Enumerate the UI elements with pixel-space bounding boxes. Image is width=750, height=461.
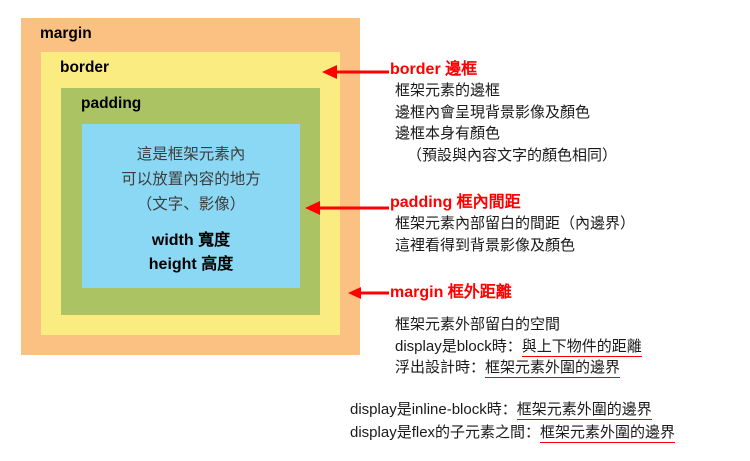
callout-padding: padding 框內間距 框架元素內部留白的間距（內邊界） 這裡看得到背景影像及…: [390, 193, 750, 256]
margin-layer-label: margin: [40, 25, 92, 43]
content-description-text: 這是框架元素內 可以放置內容的地方 （文字、影像）: [82, 142, 300, 217]
extra-line-prefix: display是flex的子元素之間：: [350, 424, 540, 441]
margin-arrow-left-icon: [344, 282, 390, 304]
callout-line-prefix: display是block時：: [395, 338, 522, 355]
padding-arrow-left-icon: [301, 197, 390, 219]
callout-padding-title: padding 框內間距: [390, 193, 750, 213]
callout-line: 框架元素外部留白的空間: [395, 314, 750, 336]
content-line: 可以放置內容的地方: [82, 167, 300, 192]
callout-margin-body: 框架元素外部留白的空間 display是block時：與上下物件的距離 浮出設計…: [390, 303, 750, 379]
callout-line: 浮出設計時：框架元素外圍的邊界: [395, 357, 750, 379]
callout-line-prefix: 浮出設計時：: [395, 359, 485, 376]
callout-line: 框架元素內部留白的間距（內邊界）: [395, 213, 750, 235]
width-label: width 寬度: [82, 229, 300, 253]
box-model-diagram: 這是框架元素內 可以放置內容的地方 （文字、影像） width 寬度 heigh…: [21, 18, 360, 355]
callout-line-underlined: 框架元素外圍的邊界: [485, 359, 620, 378]
callout-margin-title: margin 框外距離: [390, 283, 750, 303]
callout-line-underlined: 與上下物件的距離: [522, 338, 642, 357]
extra-line-prefix: display是inline-block時：: [350, 401, 517, 418]
callout-border-body: 框架元素的邊框 邊框內會呈現背景影像及顏色 邊框本身有顏色 （預設與內容文字的顏…: [390, 80, 750, 166]
extra-notes: display是inline-block時：框架元素外圍的邊界 display是…: [350, 398, 750, 444]
callout-line: display是block時：與上下物件的距離: [395, 336, 750, 358]
padding-layer-label: padding: [81, 95, 141, 113]
callout-line: 邊框本身有顏色: [395, 123, 750, 145]
callout-margin: margin 框外距離 框架元素外部留白的空間 display是block時：與…: [390, 283, 750, 379]
border-arrow-left-icon: [318, 61, 390, 83]
border-layer-label: border: [60, 59, 109, 77]
callout-padding-body: 框架元素內部留白的間距（內邊界） 這裡看得到背景影像及顏色: [390, 213, 750, 256]
content-layer: 這是框架元素內 可以放置內容的地方 （文字、影像） width 寬度 heigh…: [82, 124, 300, 288]
extra-line: display是inline-block時：框架元素外圍的邊界: [350, 398, 750, 421]
content-dimension-text: width 寬度 height 高度: [82, 229, 300, 277]
callout-border-title: border 邊框: [390, 60, 750, 80]
content-line: 這是框架元素內: [82, 142, 300, 167]
callout-line: 邊框內會呈現背景影像及顏色: [395, 102, 750, 124]
content-line: （文字、影像）: [82, 192, 300, 217]
extra-line-underlined: 框架元素外圍的邊界: [517, 401, 652, 420]
extra-line: display是flex的子元素之間：框架元素外圍的邊界: [350, 421, 750, 444]
callout-line: 框架元素的邊框: [395, 80, 750, 102]
height-label: height 高度: [82, 253, 300, 277]
callout-border: border 邊框 框架元素的邊框 邊框內會呈現背景影像及顏色 邊框本身有顏色 …: [390, 60, 750, 166]
callout-line: 這裡看得到背景影像及顏色: [395, 235, 750, 257]
callout-line: （預設與內容文字的顏色相同）: [395, 145, 750, 167]
extra-line-underlined: 框架元素外圍的邊界: [540, 424, 675, 443]
